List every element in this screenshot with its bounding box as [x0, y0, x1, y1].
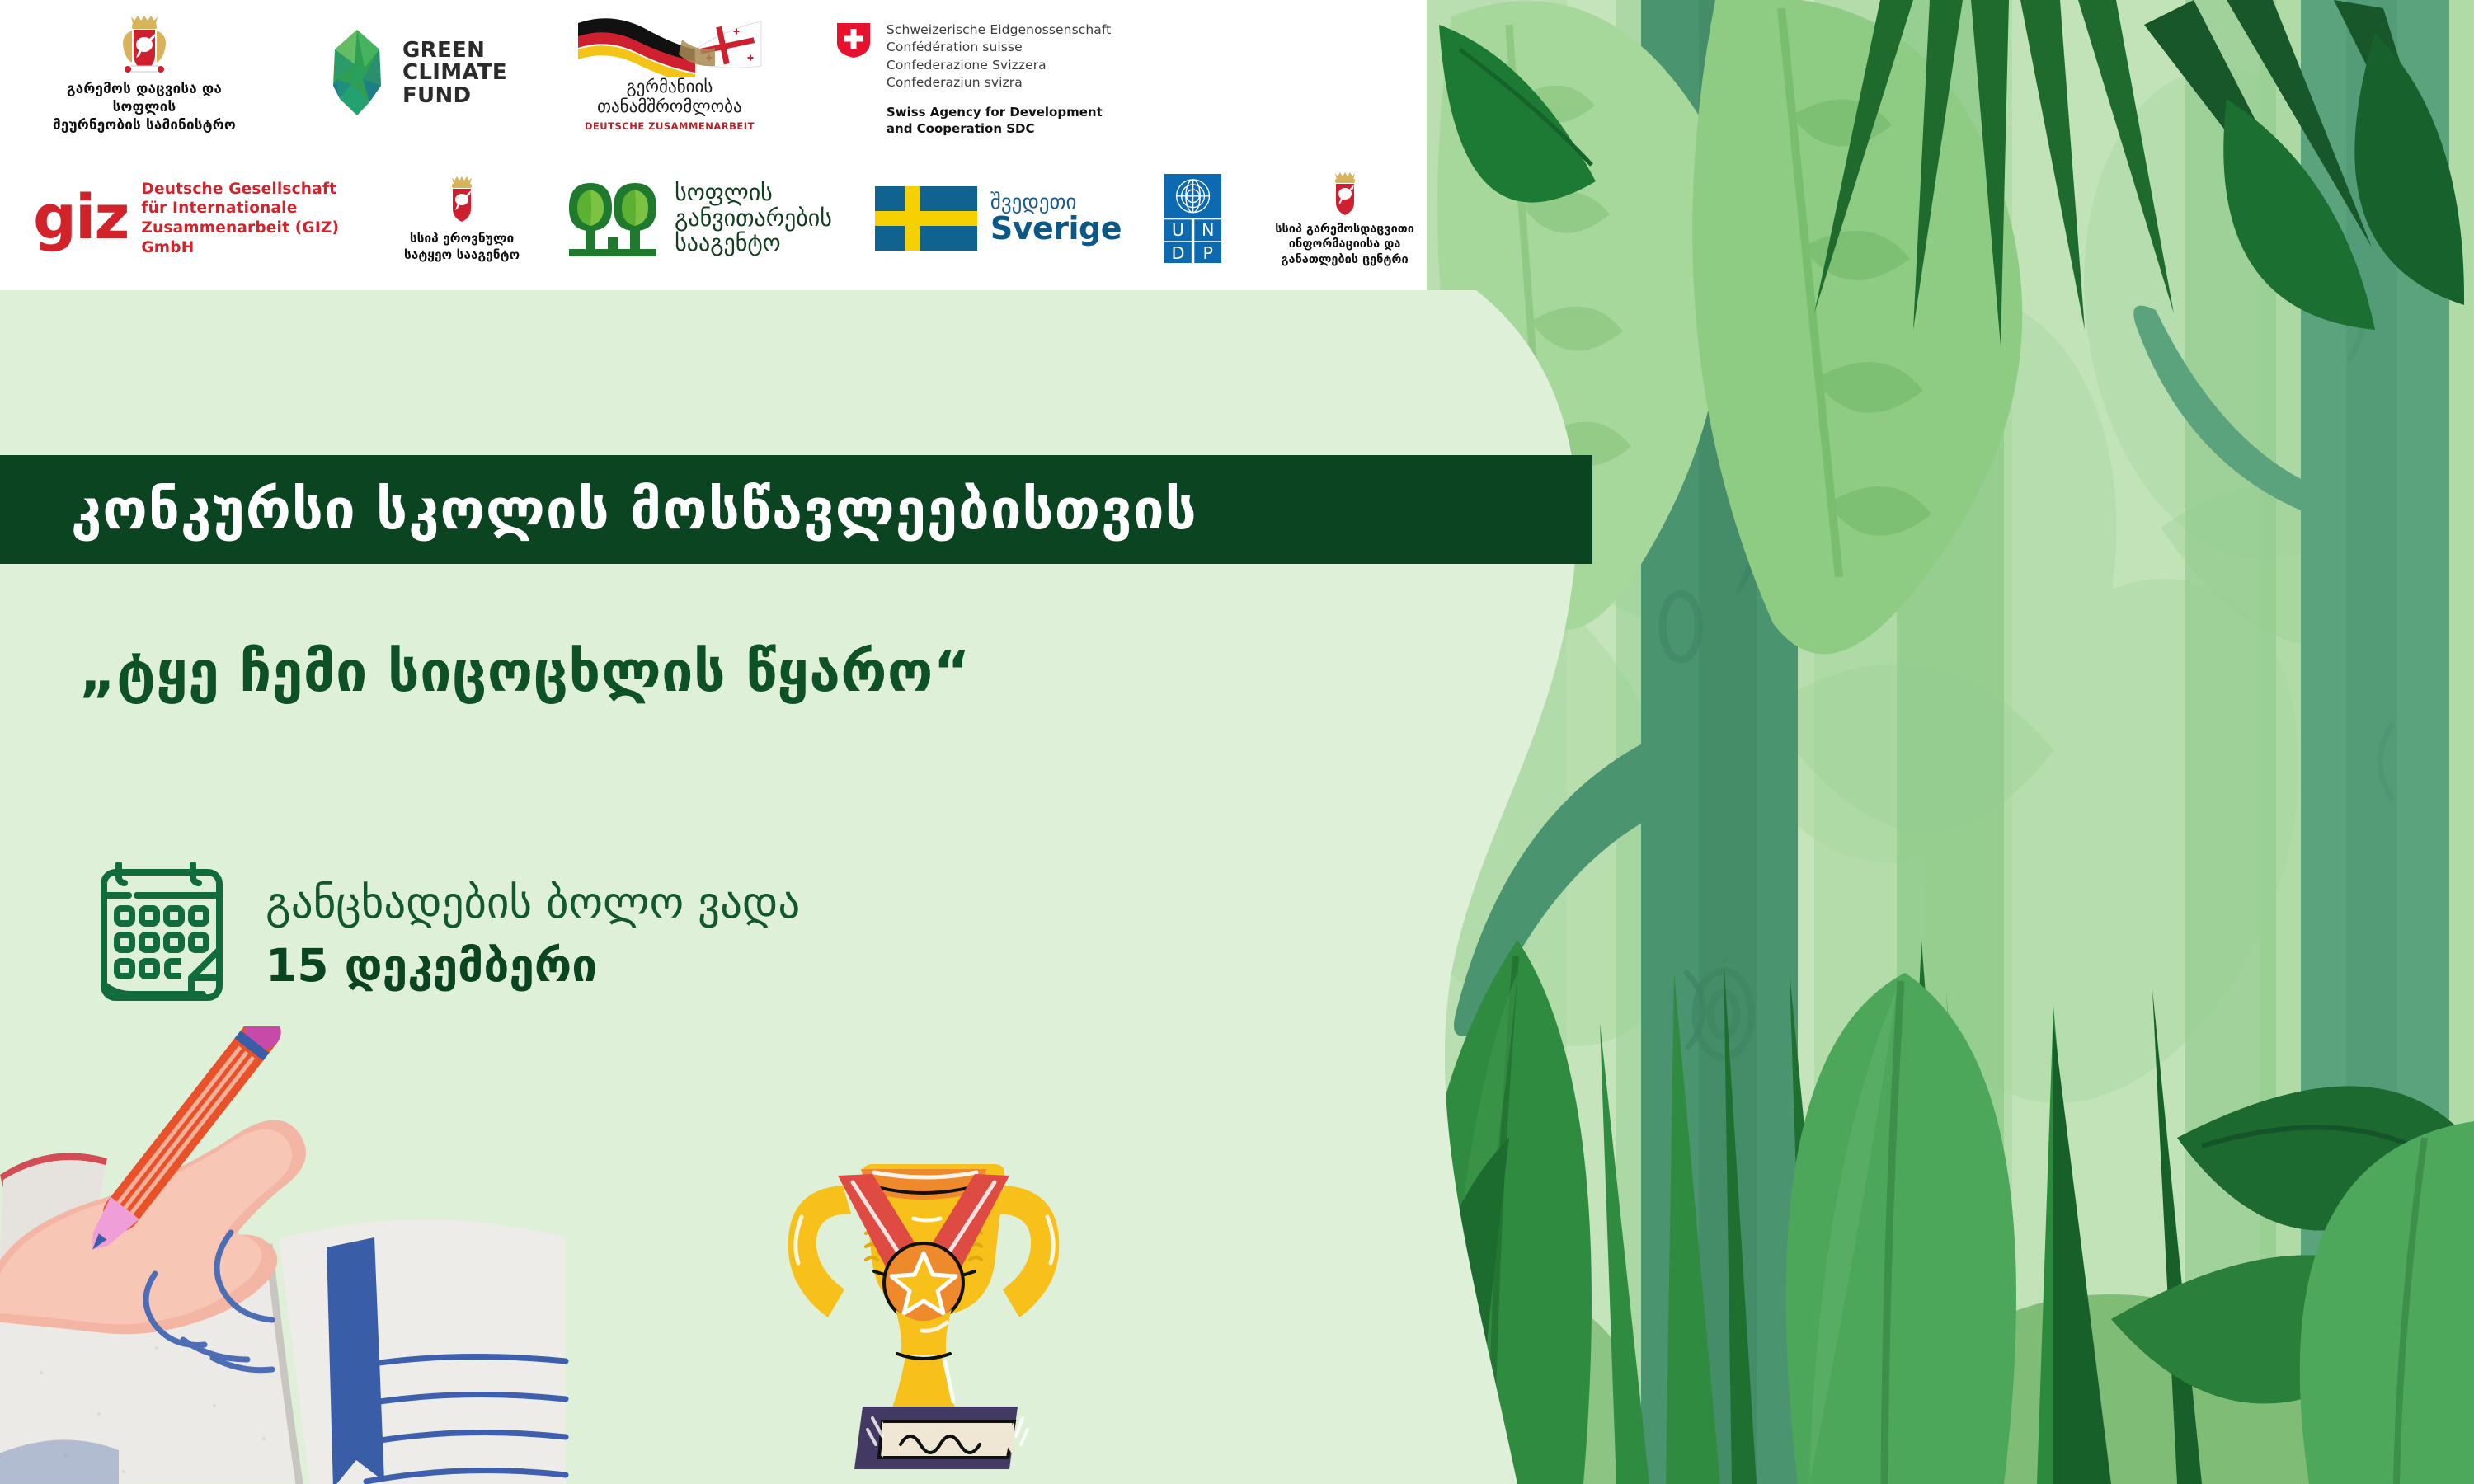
swiss-shield-icon	[835, 21, 872, 59]
ceic-line3: განათლების ცენტრი	[1275, 252, 1414, 268]
giz-line2: für Internationale	[141, 199, 348, 218]
logo-undp: UN DP	[1164, 174, 1221, 264]
gold-trophy-illustration	[750, 1146, 1097, 1484]
german-georgian-flag-ribbon-icon	[575, 15, 764, 77]
logo-ministry-of-environment: გარემოს დაცვისა და სოფლის მეურნეობის სამ…	[33, 12, 256, 134]
svg-text:U: U	[1172, 220, 1184, 240]
deadline-label: განცხადების ბოლო ვადა	[266, 881, 800, 925]
logo-deutsche-zusammenarbeit: გერმანიის თანამშრომლობა DEUTSCHE ZUSAMME…	[567, 15, 773, 131]
headline-banner: კონკურსი სკოლის მოსწავლეებისთვის	[0, 455, 1592, 564]
ceic-line1: სსიპ გარემოსდაცვითი	[1275, 222, 1414, 237]
gcf-line3: FUND	[402, 85, 507, 108]
logo-row-1: გარემოს დაცვისა და სოფლის მეურნეობის სამ…	[33, 5, 1111, 142]
giz-line3: Zusammenarbeit (GIZ) GmbH	[141, 218, 348, 257]
gcf-line1: GREEN	[402, 40, 507, 63]
deutz-line3: DEUTSCHE ZUSAMMENARBEIT	[585, 120, 755, 132]
giz-wordmark-icon: giz	[33, 194, 128, 242]
swiss-line4: Confederaziun svizra	[887, 74, 1111, 92]
sweden-flag-icon	[875, 186, 977, 251]
subheadline-text: „ტყე ჩემი სიცოცხლის წყარო“	[79, 645, 971, 701]
hand-writing-notebook-illustration	[0, 1026, 569, 1484]
logo-national-forestry-agency: სსიპ ეროვნული სატყეო სააგენტო	[394, 174, 529, 263]
partner-logo-strip: გარემოს დაცვისა და სოფლის მეურნეობის სამ…	[0, 0, 1427, 290]
swiss-line5: Swiss Agency for Development	[887, 105, 1111, 121]
two-trees-house-icon	[566, 178, 660, 259]
logo-swiss-sdc: Schweizerische Eidgenossenschaft Confédé…	[835, 10, 1111, 138]
deutz-line2: თანამშრომლობა	[597, 97, 742, 117]
nfa-line1: სსიპ ეროვნული	[404, 230, 520, 247]
deadline-block: განცხადების ბოლო ვადა 15 დეკემბერი	[97, 862, 800, 1007]
headline-text: კონკურსი სკოლის მოსწავლეებისთვის	[71, 482, 1197, 538]
swiss-line6: and Cooperation SDC	[887, 121, 1111, 138]
rda-line1: სოფლის	[675, 181, 832, 206]
rda-line3: სააგენტო	[675, 231, 832, 256]
logo-rural-development-agency: სოფლის განვითარების სააგენტო	[566, 178, 832, 259]
rda-line2: განვითარების	[675, 206, 832, 232]
svg-text:D: D	[1171, 242, 1184, 262]
logo-green-climate-fund: GREEN CLIMATE FUND	[323, 28, 507, 119]
gcf-line2: CLIMATE	[402, 62, 507, 85]
logo-row-2: giz Deutsche Gesellschaft für Internatio…	[33, 157, 1427, 280]
undp-logo-icon: UN DP	[1164, 174, 1221, 264]
green-gem-icon	[323, 28, 391, 119]
ministry-line1: გარემოს დაცვისა და სოფლის	[33, 81, 256, 117]
logo-sweden-sverige: შვედეთი Sverige	[875, 186, 1122, 251]
svg-text:P: P	[1203, 242, 1214, 262]
swiss-line2: Confédération suisse	[887, 39, 1111, 56]
deadline-date: 15 დეკემბერი	[266, 943, 800, 989]
swiss-line1: Schweizerische Eidgenossenschaft	[887, 21, 1111, 39]
georgia-coat-of-arms-icon	[1326, 170, 1364, 218]
svg-text:N: N	[1202, 220, 1215, 240]
logo-environmental-info-education-centre: სსიპ გარემოსდაცვითი ინფორმაციისა და განა…	[1263, 170, 1427, 268]
deutz-line1: გერმანიის	[597, 77, 742, 97]
ceic-line2: ინფორმაციისა და	[1275, 237, 1414, 252]
calendar-icon	[97, 862, 226, 1007]
georgia-coat-of-arms-icon	[442, 174, 482, 225]
swiss-line3: Confederazione Svizzera	[887, 57, 1111, 74]
poster-canvas: გარემოს დაცვისა და სოფლის მეურნეობის სამ…	[0, 0, 2474, 1484]
giz-line1: Deutsche Gesellschaft	[141, 180, 348, 200]
sverige-line2: Sverige	[990, 213, 1122, 246]
ministry-line2: მეურნეობის სამინისტრო	[33, 117, 256, 135]
nfa-line2: სატყეო სააგენტო	[404, 247, 520, 263]
logo-giz: giz Deutsche Gesellschaft für Internatio…	[33, 180, 348, 258]
georgia-coat-of-arms-icon	[117, 12, 172, 77]
